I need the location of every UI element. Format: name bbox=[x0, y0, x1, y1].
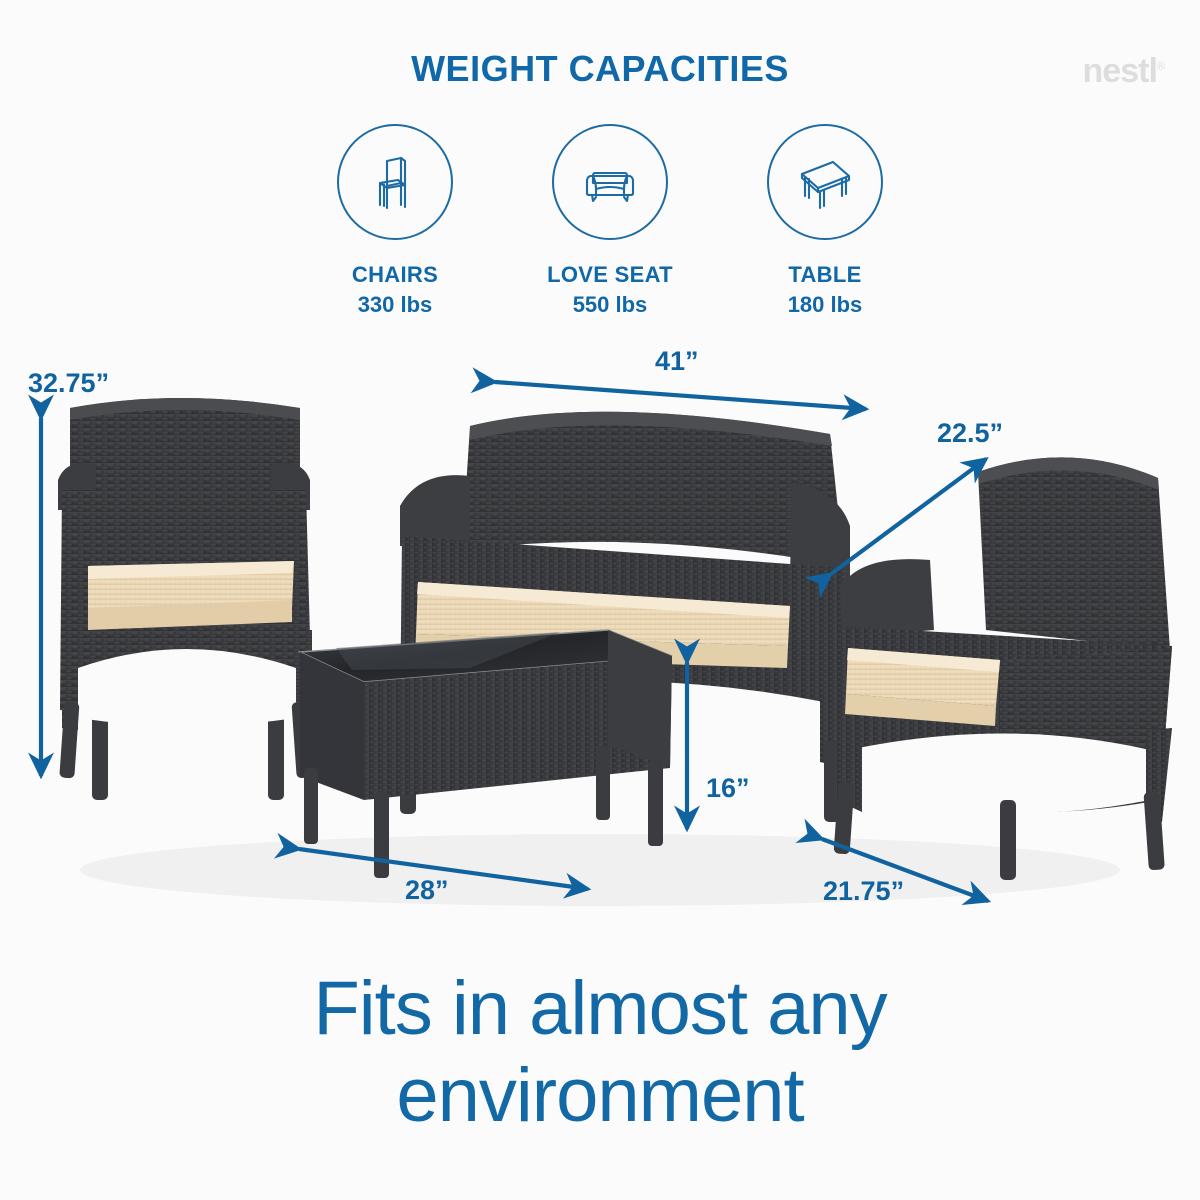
capacity-item-chairs: CHAIRS 330 lbs bbox=[300, 124, 490, 318]
capacity-item-table: TABLE 180 lbs bbox=[730, 124, 920, 318]
dimension-label-table-width: 28” bbox=[405, 875, 449, 906]
headline-line-2: environment bbox=[0, 1052, 1200, 1139]
dimension-label-loveseat-depth: 22.5” bbox=[937, 418, 1003, 449]
dimension-label-chair-depth: 21.75” bbox=[823, 876, 904, 907]
page-title: WEIGHT CAPACITIES bbox=[0, 48, 1200, 90]
capacity-label: CHAIRS bbox=[300, 262, 490, 288]
weight-capacity-list: CHAIRS 330 lbs LOVE SEAT 550 lbs bbox=[300, 124, 920, 318]
table-icon bbox=[767, 124, 883, 240]
capacity-item-love-seat: LOVE SEAT 550 lbs bbox=[515, 124, 705, 318]
capacity-value: 180 lbs bbox=[730, 292, 920, 318]
brand-logo: nestl® bbox=[1083, 52, 1164, 91]
capacity-value: 330 lbs bbox=[300, 292, 490, 318]
dimension-label-table-height: 16” bbox=[706, 773, 750, 804]
capacity-value: 550 lbs bbox=[515, 292, 705, 318]
furniture-scene bbox=[0, 330, 1200, 930]
registered-trademark-icon: ® bbox=[1157, 61, 1164, 73]
loveseat-icon bbox=[552, 124, 668, 240]
marketing-headline: Fits in almost any environment bbox=[0, 965, 1200, 1140]
right-chair bbox=[834, 457, 1172, 880]
capacity-label: TABLE bbox=[730, 262, 920, 288]
headline-line-1: Fits in almost any bbox=[0, 965, 1200, 1052]
floor-shadow bbox=[80, 834, 1120, 906]
dimension-label-loveseat-width: 41” bbox=[655, 346, 699, 377]
dimension-label-chair-height: 32.75” bbox=[28, 368, 109, 399]
brand-logo-text: nestl bbox=[1083, 52, 1157, 90]
product-dimension-infographic: WEIGHT CAPACITIES nestl® CHAIRS 330 lbs bbox=[0, 0, 1200, 1200]
capacity-label: LOVE SEAT bbox=[515, 262, 705, 288]
chair-icon bbox=[337, 124, 453, 240]
left-chair bbox=[58, 398, 312, 800]
